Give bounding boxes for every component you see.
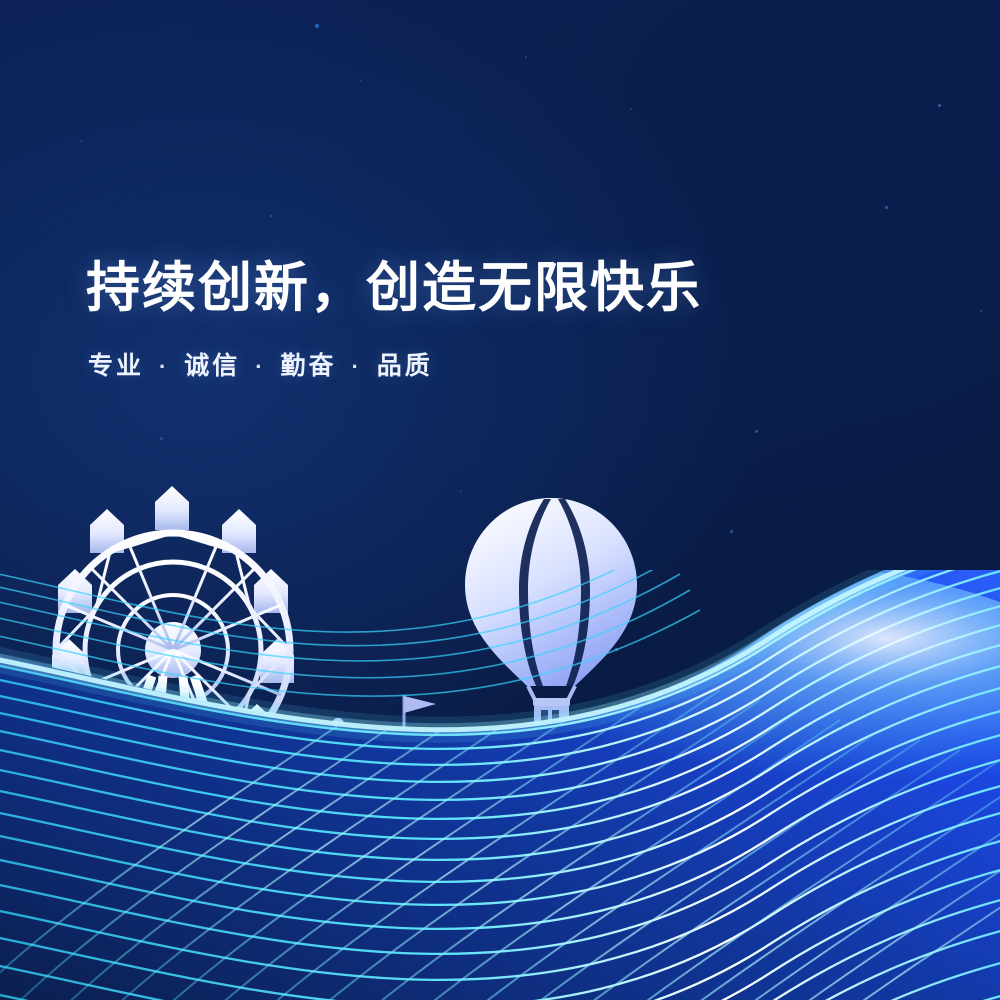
subtitle-item-1: 专业 [88,352,144,380]
subtitle-separator-2: · [250,354,270,379]
page-title: 持续创新，创造无限快乐 [86,258,702,318]
subtitle-item-3: 勤奋 [281,352,337,380]
subtitle-item-2: 诚信 [184,352,240,380]
subtitle-item-4: 品质 [377,352,433,380]
wave-mesh-svg [0,570,1000,1000]
subtitle-separator-3: · [346,354,366,379]
promo-banner: 持续创新，创造无限快乐 专业 · 诚信 · 勤奋 · 品质 [0,0,1000,1000]
subtitle: 专业 · 诚信 · 勤奋 · 品质 [88,346,702,382]
headline-block: 持续创新，创造无限快乐 专业 · 诚信 · 勤奋 · 品质 [86,258,702,382]
glowing-mesh-wave [0,570,1000,1000]
subtitle-separator-1: · [154,354,174,379]
